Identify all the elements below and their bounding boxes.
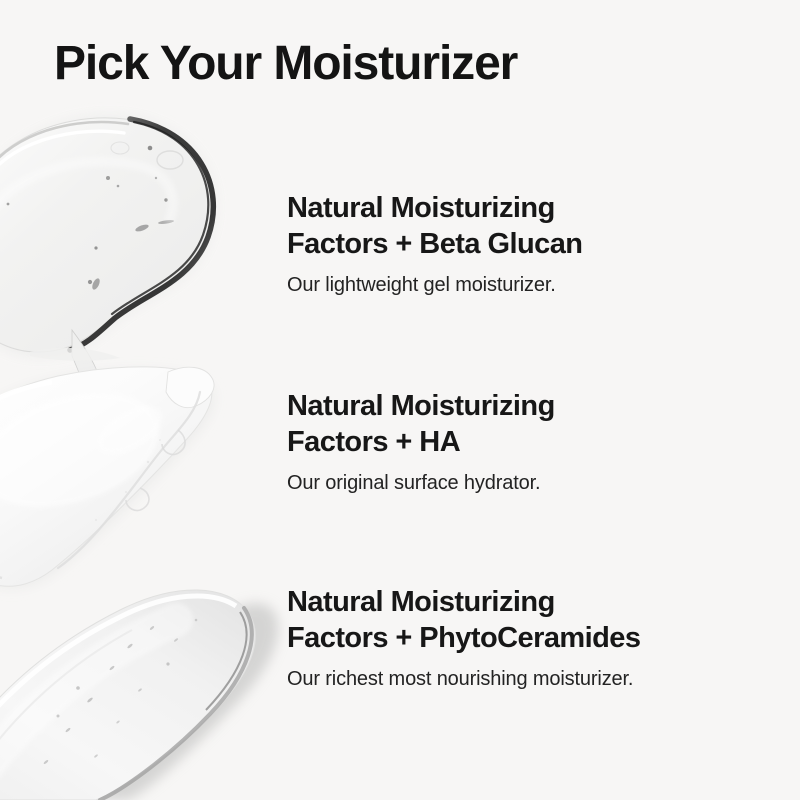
product-heading-0: Natural Moisturizing Factors + Beta Gluc… xyxy=(287,190,582,262)
cream-speckles xyxy=(95,439,161,521)
product-item-0[interactable]: Natural Moisturizing Factors + Beta Gluc… xyxy=(287,190,582,298)
page-title: Pick Your Moisturizer xyxy=(54,38,517,90)
stroke-bubbles xyxy=(43,619,197,765)
product-description-2: Our richest most nourishing moisturizer. xyxy=(287,666,640,692)
cream-scallop-1 xyxy=(162,430,185,454)
white-cream-swatch xyxy=(0,348,214,589)
swatch-illustration xyxy=(0,0,300,800)
gel-cream-stroke-swatch xyxy=(0,590,278,800)
product-texture-swatches xyxy=(0,0,300,800)
cream-bottom-edge xyxy=(0,520,2,578)
cream-highlight-2 xyxy=(90,396,170,463)
gel-drop xyxy=(92,376,102,388)
stroke-sheen xyxy=(0,620,176,790)
gel-edge-highlight-dark xyxy=(112,122,208,314)
gel-dark-edge xyxy=(70,119,213,350)
product-heading-1: Natural Moisturizing Factors + HA xyxy=(287,388,555,460)
cream-right-contour xyxy=(58,392,200,568)
product-item-1[interactable]: Natural Moisturizing Factors + HA Our or… xyxy=(287,388,555,496)
cream-body xyxy=(0,367,212,586)
gel-shadow xyxy=(0,116,215,356)
stroke-edge-dark xyxy=(206,612,247,710)
moisturizer-comparison-graphic: Pick Your Moisturizer Natural Moisturizi… xyxy=(0,0,800,800)
cream-left-shine xyxy=(0,382,52,452)
cream-scallop-2 xyxy=(126,488,149,510)
gel-top-rim xyxy=(0,122,128,208)
product-heading-2: Natural Moisturizing Factors + PhytoCera… xyxy=(287,584,640,656)
gel-body xyxy=(0,118,212,352)
product-description-1: Our original surface hydrator. xyxy=(287,470,555,496)
stroke-body xyxy=(0,590,255,800)
product-description-0: Our lightweight gel moisturizer. xyxy=(287,272,582,298)
gel-inner-sheen xyxy=(0,162,173,230)
gel-top-gloss xyxy=(0,131,124,196)
clear-gel-swatch xyxy=(0,116,215,393)
cream-shadow xyxy=(0,370,214,588)
gel-bubbles xyxy=(7,142,183,291)
stroke-lower-edge xyxy=(100,608,252,800)
stroke-top-gloss xyxy=(0,596,236,780)
stroke-top-rim xyxy=(0,630,132,796)
cream-fleck xyxy=(30,348,120,361)
stroke-shadow xyxy=(44,603,278,800)
cream-tip-lobe xyxy=(166,367,214,407)
gel-drip-tail xyxy=(72,330,100,393)
cream-highlight xyxy=(0,372,174,528)
product-item-2[interactable]: Natural Moisturizing Factors + PhytoCera… xyxy=(287,584,640,692)
